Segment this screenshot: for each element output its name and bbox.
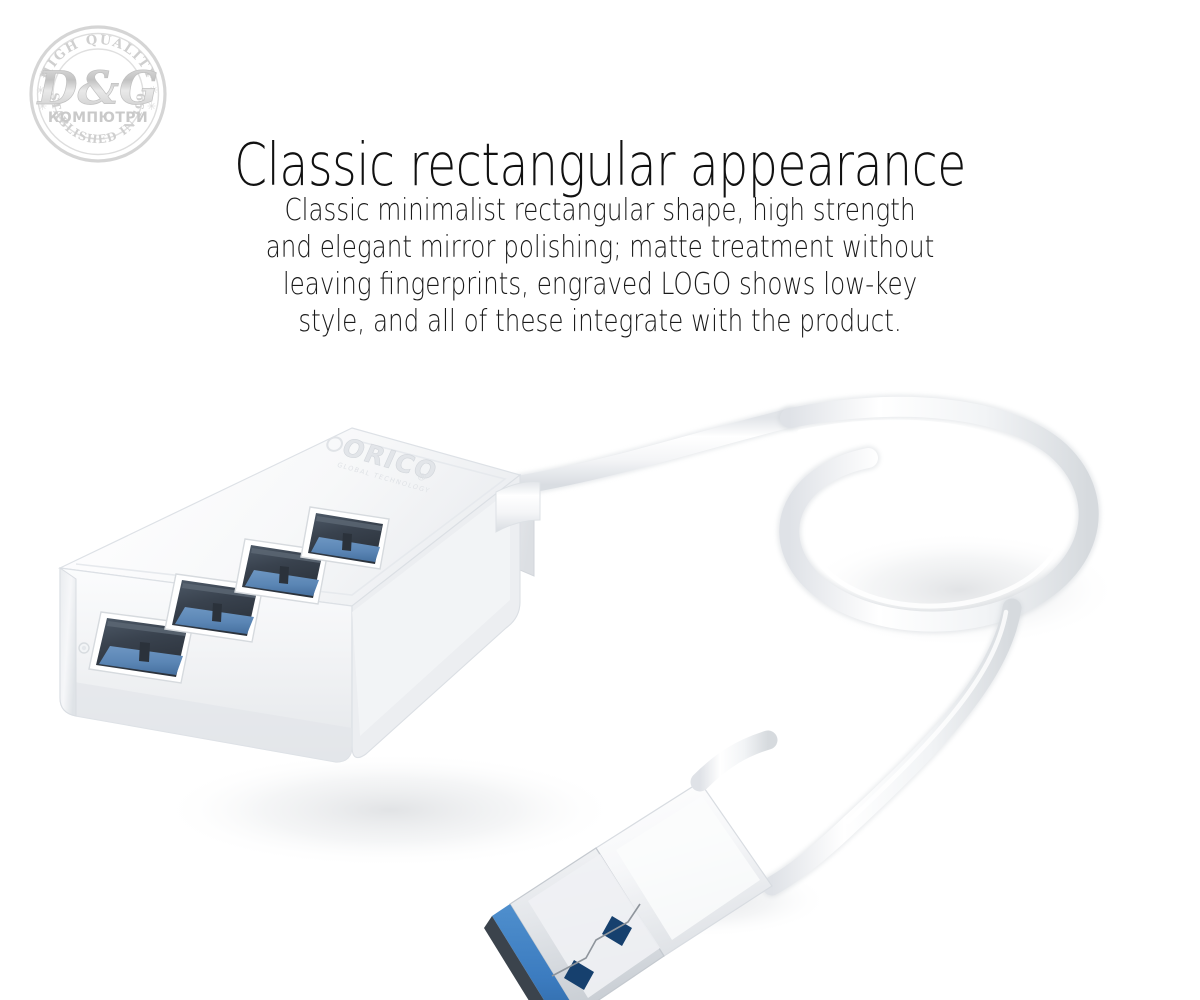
description-paragraph: Classic minimalist rectangular shape, hi… — [108, 192, 1092, 340]
led-indicator — [79, 643, 89, 653]
usb-hub-body: ORICO GLOBAL TECHNOLOGY ® — [60, 428, 540, 762]
description-line-1: Classic minimalist rectangular shape, hi… — [108, 192, 1092, 229]
plug-cable-entry — [700, 740, 768, 782]
product-feature-page: ✳ ✳ ✳ ✳ ✳ ✳ HIGH QUALITY ESTABLISHED IN … — [0, 0, 1200, 1000]
cable-segment-loop-to-plug — [772, 608, 1012, 886]
description-line-2: and elegant mirror polishing; matte trea… — [108, 229, 1092, 266]
cable-segment-hub-to-loop — [520, 418, 790, 485]
seal-brand-text: D&G — [36, 61, 159, 115]
hub-left-end — [60, 568, 76, 716]
product-photo: ORICO GLOBAL TECHNOLOGY ® — [0, 380, 1200, 1000]
seal-subtitle-text: КОМПЮТРИ — [48, 110, 148, 126]
description-line-4: style, and all of these integrate with t… — [108, 303, 1092, 340]
usb-port-4 — [301, 507, 389, 569]
hub-ground-shadow — [160, 752, 620, 868]
page-title: Classic rectangular appearance — [120, 132, 1080, 198]
description-line-3: leaving fingerprints, engraved LOGO show… — [108, 266, 1092, 303]
